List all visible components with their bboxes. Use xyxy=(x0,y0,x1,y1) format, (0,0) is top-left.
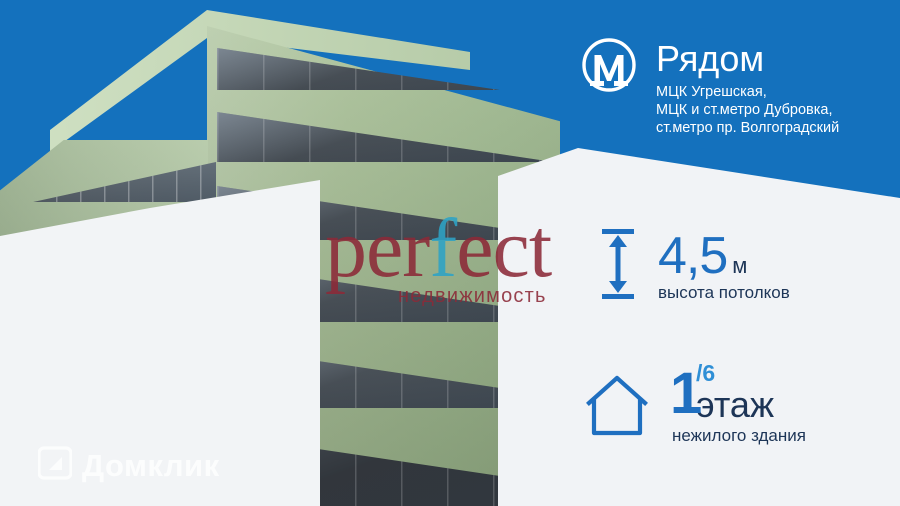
watermark-domklik: Домклик xyxy=(38,446,220,485)
watermark-subtitle: недвижимость xyxy=(398,285,547,308)
ceiling-caption: высота потолков xyxy=(658,283,790,303)
vertical-double-arrow-icon xyxy=(600,228,636,305)
floor-value-row: 1 /6 этаж xyxy=(670,368,806,426)
watermark-brand-part1: per xyxy=(325,202,429,295)
watermark-brand-part2: ect xyxy=(456,202,551,295)
floor-caption: нежилого здания xyxy=(672,426,806,446)
floor-total: /6 xyxy=(696,360,715,387)
metro-title: Рядом xyxy=(656,40,839,78)
metro-lines: МЦК Угрешская, МЦК и ст.метро Дубровка, … xyxy=(656,83,839,137)
ceiling-value-row: 4,5м xyxy=(658,231,790,281)
domklik-house-icon xyxy=(38,446,72,485)
ceiling-value: 4,5 xyxy=(658,227,727,285)
metro-line: ст.метро пр. Волгоградский xyxy=(656,119,839,137)
moscow-metro-m-icon xyxy=(578,36,640,103)
watermark-brand-f: f xyxy=(429,202,456,295)
floor-number-group: 1 /6 xyxy=(670,368,702,420)
floor-word: этаж xyxy=(696,384,774,425)
listing-photo-card: perfect недвижимость Домклик Рядом МЦК У… xyxy=(0,0,900,506)
domklik-label: Домклик xyxy=(82,448,220,484)
ceiling-text: 4,5м высота потолков xyxy=(658,231,790,303)
watermark-perfect: perfect недвижимость xyxy=(325,207,583,315)
metro-block: Рядом МЦК Угрешская, МЦК и ст.метро Дубр… xyxy=(578,36,839,137)
metro-line: МЦК и ст.метро Дубровка, xyxy=(656,101,839,119)
stat-floor: 1 /6 этаж нежилого здания xyxy=(586,368,806,446)
metro-line: МЦК Угрешская, xyxy=(656,83,839,101)
metro-text: Рядом МЦК Угрешская, МЦК и ст.метро Дубр… xyxy=(656,36,839,137)
stat-ceiling-height: 4,5м высота потолков xyxy=(600,228,790,305)
floor-text: 1 /6 этаж нежилого здания xyxy=(670,368,806,446)
house-outline-icon xyxy=(586,373,648,442)
ceiling-unit: м xyxy=(732,253,747,278)
watermark-brand: perfect xyxy=(325,207,583,291)
